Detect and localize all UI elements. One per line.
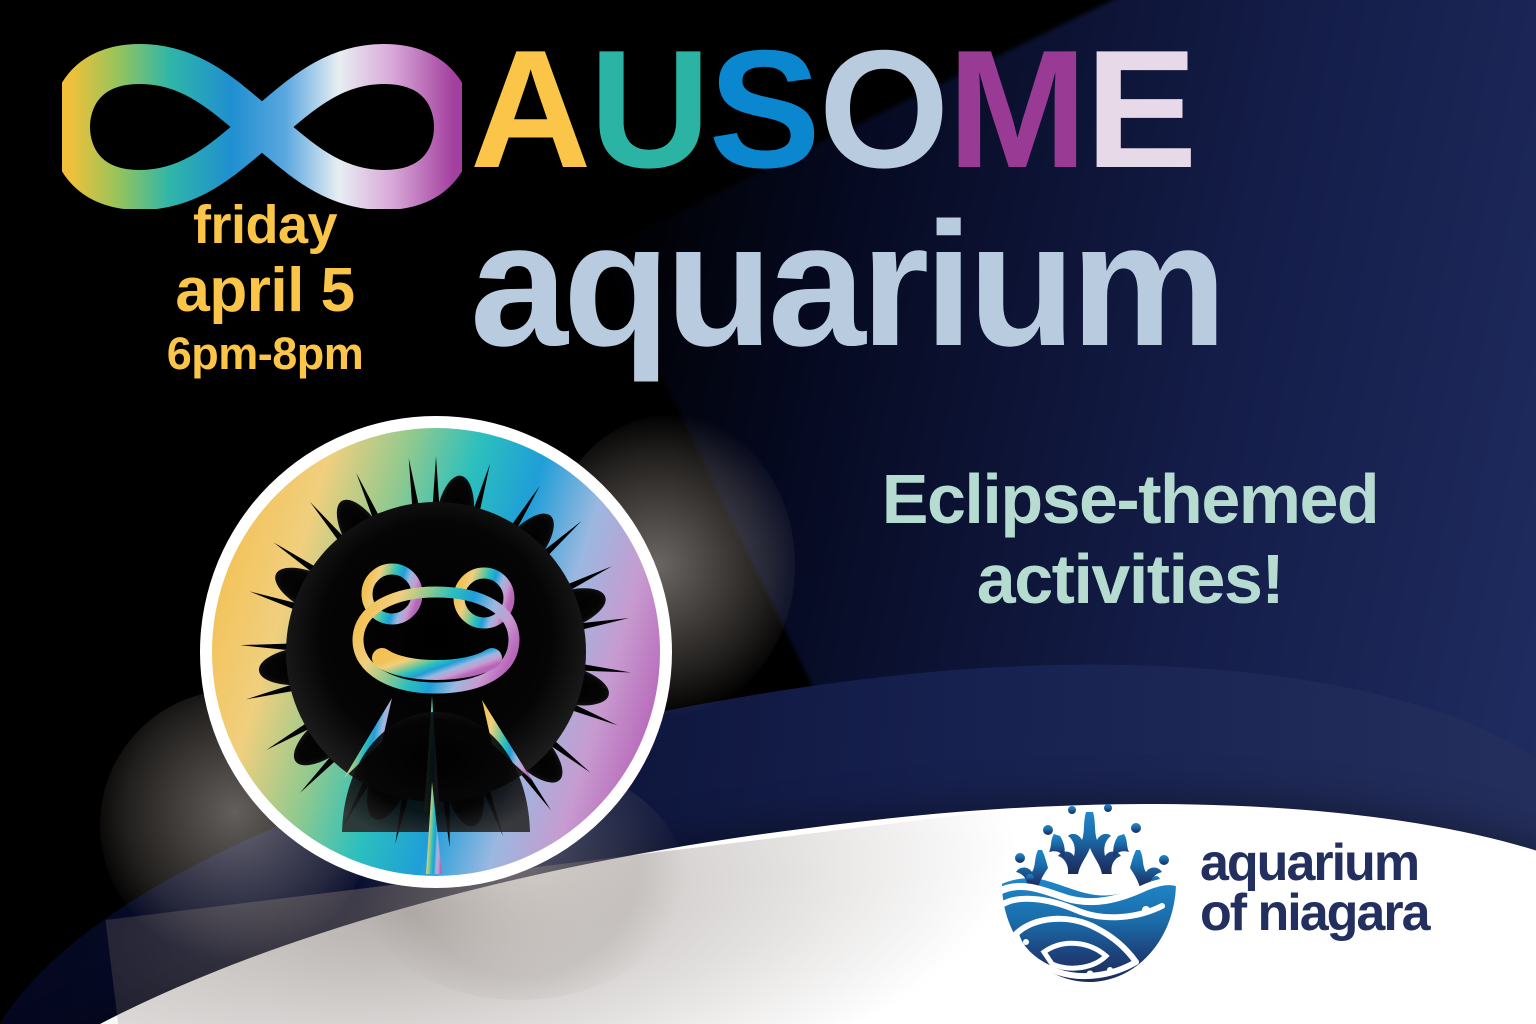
- neurodiversity-infinity-icon: [62, 44, 462, 209]
- eclipse-sun-face-icon: [196, 412, 676, 892]
- headline-letter-m: M: [947, 30, 1085, 190]
- headline-letter-a: A: [470, 30, 589, 190]
- poster-canvas: friday april 5 6pm-8pm AUSOME aquarium E…: [0, 0, 1536, 1024]
- coral-fish-circle-icon: [986, 788, 1192, 994]
- event-date: april 5: [60, 260, 470, 322]
- headline-letter-o: O: [819, 30, 948, 190]
- headline-letter-u: U: [589, 30, 708, 190]
- headline-aquarium: aquarium: [470, 202, 1222, 369]
- logo-name-line-2: of niagara: [1200, 884, 1432, 942]
- event-time: 6pm-8pm: [60, 331, 470, 376]
- event-day: friday: [60, 198, 470, 252]
- headline-ausome: AUSOME: [470, 30, 1195, 190]
- eclipse-glow-ring: [154, 370, 718, 934]
- logo-wordmark: aquarium of niagara: [1198, 828, 1488, 948]
- tagline-line-1: Eclipse-themed: [790, 460, 1470, 540]
- headline-letter-e: E: [1085, 30, 1195, 190]
- headline-letter-s: S: [709, 30, 819, 190]
- tagline-line-2: activities!: [790, 540, 1470, 620]
- event-date-block: friday april 5 6pm-8pm: [60, 198, 470, 376]
- tagline-block: Eclipse-themed activities!: [790, 460, 1470, 620]
- aquarium-of-niagara-logo[interactable]: aquarium of niagara: [986, 788, 1486, 998]
